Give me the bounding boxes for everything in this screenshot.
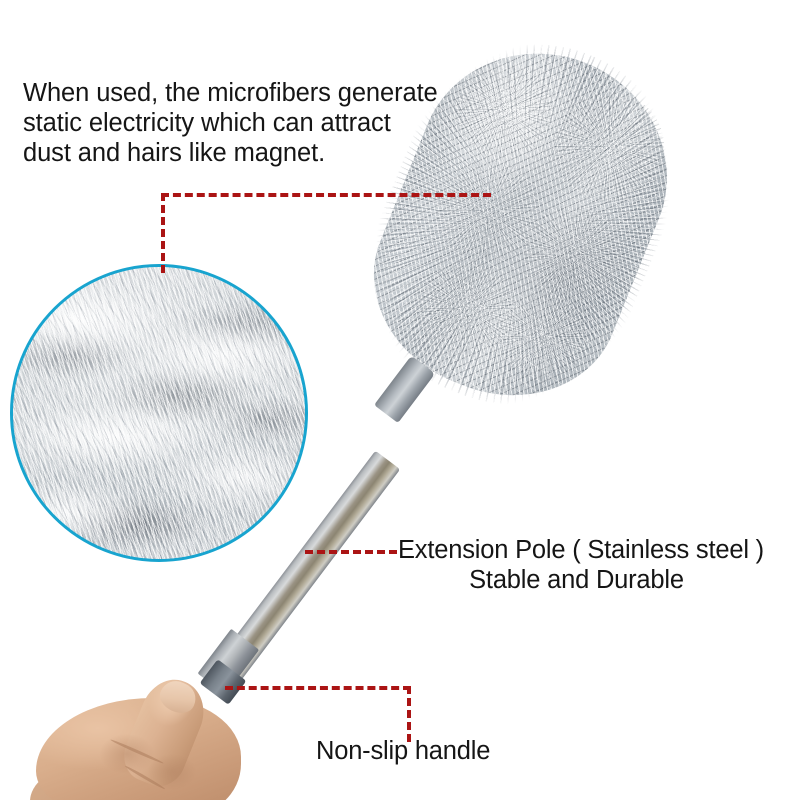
extension-pole-label: Extension Pole ( Stainless steel ) Stabl… bbox=[398, 535, 793, 595]
callout-line-handle-vertical bbox=[407, 686, 411, 742]
non-slip-handle-label: Non-slip handle bbox=[316, 736, 490, 766]
infographic-canvas: When used, the microfibers generate stat… bbox=[0, 0, 800, 800]
microfiber-description-text: When used, the microfibers generate stat… bbox=[23, 78, 523, 168]
extension-pole-label-line2: Stable and Durable bbox=[398, 565, 793, 595]
callout-line-microfiber-horizontal bbox=[161, 193, 491, 197]
hand-holding-handle bbox=[30, 672, 260, 800]
callout-line-handle-horizontal bbox=[225, 686, 411, 690]
extension-pole-label-line1: Extension Pole ( Stainless steel ) bbox=[398, 535, 793, 565]
fiber-closeup-circle bbox=[10, 264, 308, 562]
callout-line-microfiber-vertical bbox=[161, 193, 165, 273]
callout-line-pole bbox=[305, 550, 397, 554]
magnifier-gloss bbox=[13, 267, 305, 559]
